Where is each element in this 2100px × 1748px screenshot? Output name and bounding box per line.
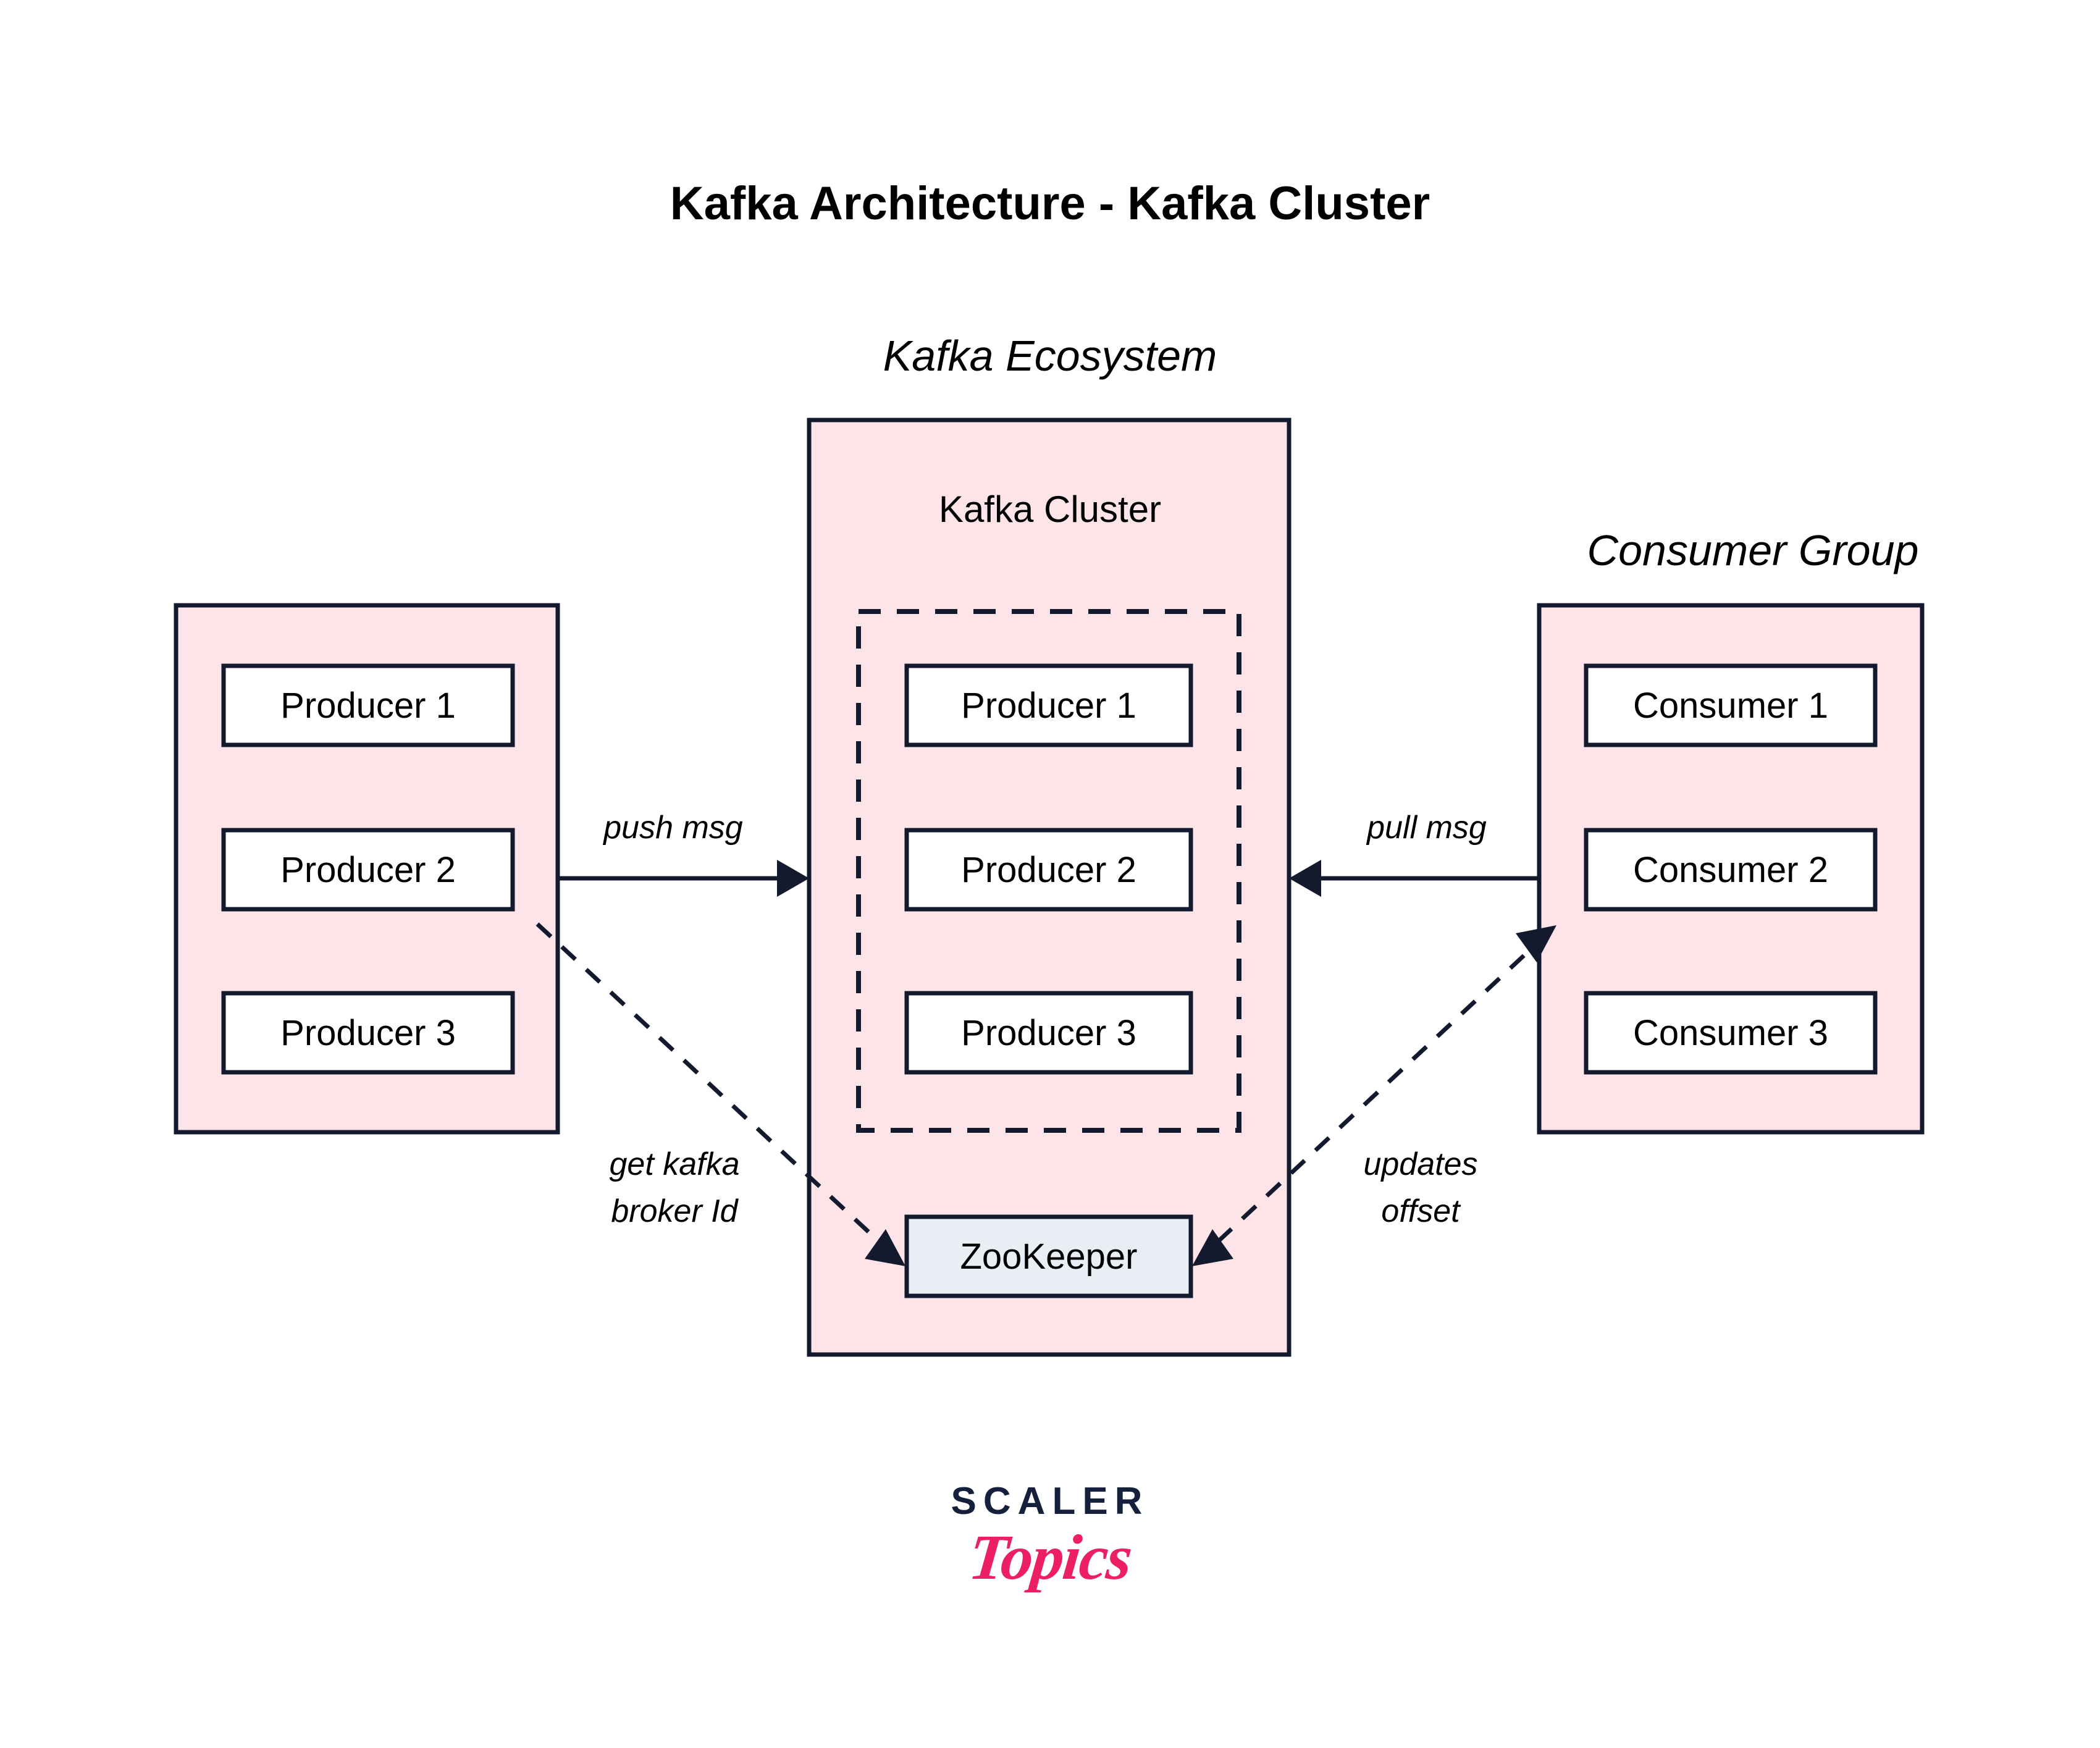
kafka-ecosystem-label: Kafka Ecosystem — [883, 332, 1217, 380]
consumer-node-3-label: Consumer 3 — [1633, 1013, 1828, 1053]
edge-pull-msg: pull msg — [1289, 810, 1539, 897]
cluster-node-producer-2[interactable]: Producer 2 — [907, 830, 1191, 909]
edge-push-msg-arrowhead-icon — [777, 860, 809, 897]
zookeeper-node-label: ZooKeeper — [960, 1237, 1138, 1277]
cluster-node-producer-1[interactable]: Producer 1 — [907, 666, 1191, 745]
edge-pull-msg-arrowhead-icon — [1289, 860, 1321, 897]
consumer-node-1[interactable]: Consumer 1 — [1586, 666, 1875, 745]
producer-node-1-label: Producer 1 — [280, 686, 456, 726]
page-title: Kafka Architecture - Kafka Cluster — [670, 177, 1430, 230]
scaler-topics-logo: SCALER Topics — [0, 1482, 2100, 1590]
cluster-node-producer-1-label: Producer 1 — [961, 686, 1136, 726]
edge-updates-offset-label-line2: offset — [1381, 1193, 1461, 1229]
consumer-group-label: Consumer Group — [1587, 526, 1919, 574]
zookeeper-node[interactable]: ZooKeeper — [907, 1217, 1191, 1296]
edge-pull-msg-label: pull msg — [1366, 810, 1487, 846]
logo-primary-text: SCALER — [0, 1482, 2100, 1521]
producer-node-3[interactable]: Producer 3 — [224, 993, 513, 1072]
cluster-node-producer-3-label: Producer 3 — [961, 1013, 1136, 1053]
consumer-node-2[interactable]: Consumer 2 — [1586, 830, 1875, 909]
diagram-canvas: Kafka Architecture - Kafka Cluster Kafka… — [0, 0, 2100, 1748]
edge-get-kafka-broker-id-label-line2: broker Id — [611, 1193, 739, 1229]
consumer-node-3[interactable]: Consumer 3 — [1586, 993, 1875, 1072]
producer-node-2-label: Producer 2 — [280, 850, 456, 890]
logo-secondary-text: Topics — [0, 1526, 2100, 1590]
edge-push-msg-label: push msg — [602, 810, 743, 846]
producer-node-1[interactable]: Producer 1 — [224, 666, 513, 745]
consumer-node-1-label: Consumer 1 — [1633, 686, 1828, 726]
kafka-cluster-label: Kafka Cluster — [939, 489, 1161, 530]
edge-updates-offset-label-line1: updates — [1363, 1146, 1477, 1182]
edge-get-kafka-broker-id-label-line1: get kafka — [609, 1146, 739, 1182]
consumer-node-2-label: Consumer 2 — [1633, 850, 1828, 890]
edge-push-msg: push msg — [558, 810, 809, 897]
producer-node-2[interactable]: Producer 2 — [224, 830, 513, 909]
cluster-node-producer-2-label: Producer 2 — [961, 850, 1136, 890]
cluster-node-producer-3[interactable]: Producer 3 — [907, 993, 1191, 1072]
producer-node-3-label: Producer 3 — [280, 1013, 456, 1053]
